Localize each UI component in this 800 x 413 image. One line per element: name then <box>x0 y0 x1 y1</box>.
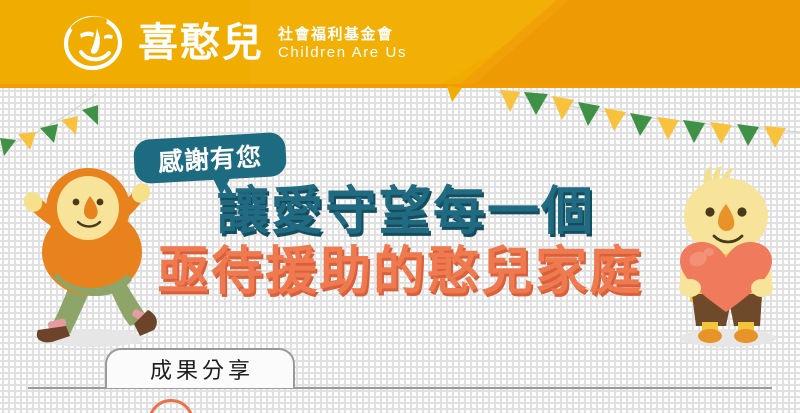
brand-logo-block[interactable]: 喜憨兒 社會福利基金會 Children Are Us <box>60 12 407 74</box>
brand-subtitle-cn: 社會福利基金會 <box>278 27 407 42</box>
brand-subtitle-en: Children Are Us <box>278 45 407 60</box>
orange-hoodie-child-character <box>8 160 168 350</box>
bunting-right <box>500 90 786 148</box>
bunting-left <box>0 105 98 156</box>
thank-you-speech-bubble: 感謝有您 <box>133 132 287 184</box>
speech-bubble-label: 感謝有您 <box>133 132 287 184</box>
page-root: 喜憨兒 社會福利基金會 Children Are Us <box>0 0 800 413</box>
content-tab-bar: 成果分享 <box>0 348 800 388</box>
tab-results-sharing-label: 成果分享 <box>146 353 254 385</box>
tab-results-sharing[interactable]: 成果分享 <box>105 348 295 388</box>
yellow-child-holding-heart-character <box>652 166 800 351</box>
bunting-nub <box>447 86 462 102</box>
brand-name: 喜憨兒 <box>138 23 264 63</box>
brand-subtitle-block: 社會福利基金會 Children Are Us <box>278 27 407 60</box>
smiley-face-circle-logo-icon <box>60 12 126 74</box>
bunting-flags-decoration <box>0 86 800 156</box>
